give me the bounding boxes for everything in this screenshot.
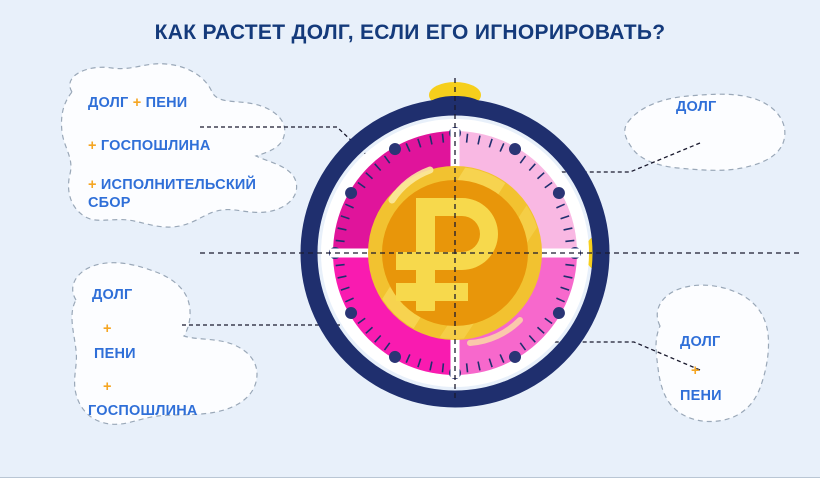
callout-bottom-left-plus-2: + xyxy=(103,378,223,396)
plus-icon: + xyxy=(88,177,97,193)
bottom-strip xyxy=(0,477,820,482)
callout-bottom-left-line-3: ГОСПОШЛИНА xyxy=(88,402,268,420)
callout-top-left-line-1: ДОЛГ + ПЕНИ xyxy=(88,94,293,112)
plus-icon: + xyxy=(103,321,112,337)
callout-top-left-line-3: + ИСПОЛНИТЕЛЬСКИЙ СБОР xyxy=(88,176,288,212)
callout-bottom-left-line-2: ПЕНИ xyxy=(94,345,234,363)
callout-bottom-right-plus-1: + xyxy=(691,362,781,380)
callout-bottom-left-line-1: ДОЛГ xyxy=(92,286,252,304)
callout-tl-debt: ДОЛГ xyxy=(88,95,128,111)
callout-tl-duty: ГОСПОШЛИНА xyxy=(101,138,211,154)
infographic-canvas: КАК РАСТЕТ ДОЛГ, ЕСЛИ ЕГО ИГНОРИРОВАТЬ? xyxy=(0,0,820,482)
callout-bl-penalty: ПЕНИ xyxy=(94,346,136,362)
callout-br-penalty: ПЕНИ xyxy=(680,388,722,404)
plus-icon: + xyxy=(103,379,112,395)
plus-icon: + xyxy=(691,363,700,379)
callout-top-left-line-2: + ГОСПОШЛИНА xyxy=(88,137,293,155)
callout-tl-fee: ИСПОЛНИТЕЛЬСКИЙ СБОР xyxy=(88,177,256,211)
callout-top-right-line-1: ДОЛГ xyxy=(676,98,786,116)
callout-bl-duty: ГОСПОШЛИНА xyxy=(88,403,198,419)
callout-tr-debt: ДОЛГ xyxy=(676,99,716,115)
plus-icon: + xyxy=(133,95,142,111)
plus-icon: + xyxy=(88,138,97,154)
callout-bottom-right-line-1: ДОЛГ xyxy=(680,333,790,351)
callout-tl-penalty: ПЕНИ xyxy=(146,95,188,111)
callout-bottom-right-line-2: ПЕНИ xyxy=(680,387,790,405)
callout-br-debt: ДОЛГ xyxy=(680,334,720,350)
callout-bl-debt: ДОЛГ xyxy=(92,287,132,303)
callout-bottom-left-plus-1: + xyxy=(103,320,223,338)
